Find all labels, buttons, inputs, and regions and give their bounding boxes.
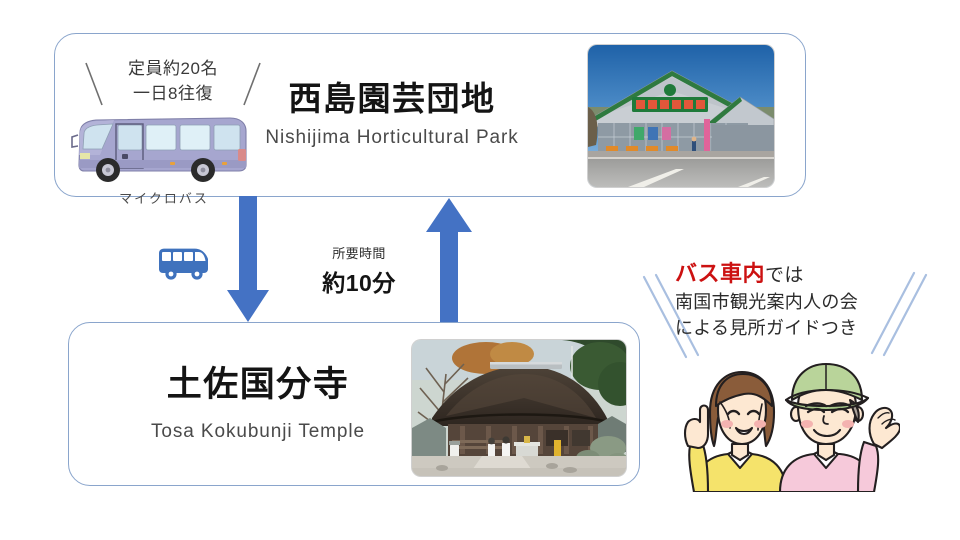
duration-value: 約10分: [300, 264, 418, 298]
guide-note-line-2: 南国市観光案内人の会: [675, 290, 895, 316]
bottom-place-name: 土佐国分寺 Tosa Kokubunji Temple: [108, 367, 408, 441]
top-place-name-en: Nishijima Horticultural Park: [232, 128, 552, 147]
bottom-place-name-jp: 土佐国分寺: [108, 367, 408, 402]
guide-note-line-1: バス車内では: [675, 258, 895, 290]
duration-label: 所要時間: [300, 243, 418, 262]
park-photo: [588, 45, 774, 187]
top-place-name-jp: 西島園芸団地: [232, 82, 552, 115]
bus-spec-line-1: 定員約20名: [78, 57, 268, 82]
top-place-name: 西島園芸団地 Nishijima Horticultural Park: [232, 82, 552, 147]
arrow-up-temple-to-park: [424, 198, 474, 324]
microbus-illustration: [70, 113, 258, 185]
guide-characters-illustration: [668, 356, 900, 492]
travel-duration: 所要時間 約10分: [300, 243, 418, 298]
bus-icon: [157, 247, 211, 281]
arrow-down-park-to-temple: [224, 196, 272, 324]
temple-photo: [412, 340, 626, 476]
guide-note-emphasis: バス車内: [675, 261, 765, 286]
slide-canvas: 定員約20名 一日8往復: [0, 0, 960, 540]
guide-note-line-1-rest: では: [765, 265, 804, 286]
bottom-place-name-en: Tosa Kokubunji Temple: [108, 422, 408, 441]
guide-note-text: バス車内では 南国市観光案内人の会 による見所ガイドつき: [675, 258, 895, 341]
onboard-guide-note: バス車内では 南国市観光案内人の会 による見所ガイドつき: [640, 255, 930, 360]
guide-note-line-3: による見所ガイドつき: [675, 316, 895, 342]
